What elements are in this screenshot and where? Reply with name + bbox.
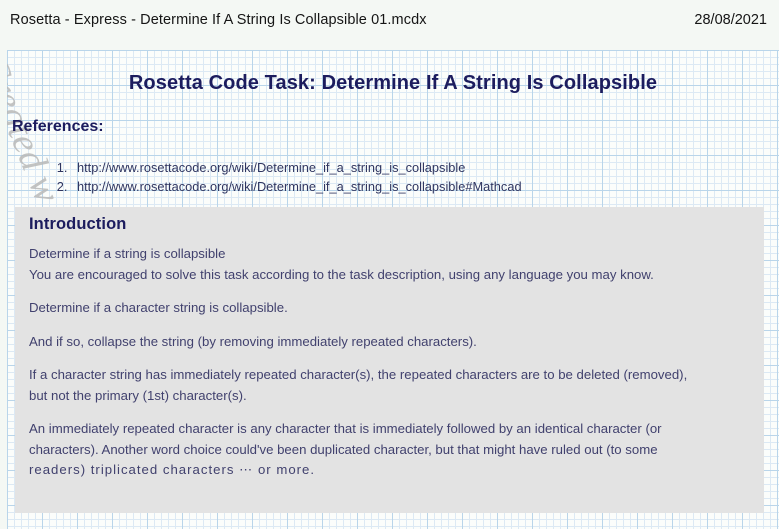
intro-line: readers) triplicated characters ⋯ or mor… xyxy=(29,460,752,481)
intro-line: characters). Another word choice could'v… xyxy=(29,440,752,461)
document-header-bar: Rosetta - Express - Determine If A Strin… xyxy=(0,0,779,50)
intro-line: Determine if a character string is colla… xyxy=(29,298,752,319)
references-heading: References: xyxy=(12,118,104,136)
intro-paragraph-3: And if so, collapse the string (by remov… xyxy=(29,332,752,353)
intro-line: but not the primary (1st) character(s). xyxy=(29,386,752,407)
document-title-text: Rosetta - Express - Determine If A Strin… xyxy=(10,12,427,28)
intro-paragraph-4: If a character string has immediately re… xyxy=(29,365,752,406)
intro-line: If a character string has immediately re… xyxy=(29,365,752,386)
references-heading-colon: : xyxy=(98,118,103,135)
introduction-heading: Introduction xyxy=(29,215,752,234)
references-list: http://www.rosettacode.org/wiki/Determin… xyxy=(47,158,522,196)
intro-paragraph-2: Determine if a character string is colla… xyxy=(29,298,752,319)
mathcad-worksheet-canvas[interactable]: Created w x2 Rosetta Code Task: Determin… xyxy=(7,50,779,529)
intro-line: Determine if a string is collapsible xyxy=(29,244,752,265)
reference-link-2[interactable]: http://www.rosettacode.org/wiki/Determin… xyxy=(77,179,522,194)
reference-link-1[interactable]: http://www.rosettacode.org/wiki/Determin… xyxy=(77,160,465,175)
intro-paragraph-5: An immediately repeated character is any… xyxy=(29,419,752,481)
page-title: Rosetta Code Task: Determine If A String… xyxy=(7,72,779,95)
document-date-text: 28/08/2021 xyxy=(694,12,767,28)
introduction-panel[interactable]: Introduction Determine if a string is co… xyxy=(15,207,764,513)
references-heading-label: References xyxy=(12,118,98,135)
list-item: http://www.rosettacode.org/wiki/Determin… xyxy=(71,177,522,196)
intro-line: An immediately repeated character is any… xyxy=(29,419,752,440)
intro-line: And if so, collapse the string (by remov… xyxy=(29,332,752,353)
intro-line: You are encouraged to solve this task ac… xyxy=(29,265,752,286)
intro-paragraph-1: Determine if a string is collapsible You… xyxy=(29,244,752,285)
list-item: http://www.rosettacode.org/wiki/Determin… xyxy=(71,158,522,177)
